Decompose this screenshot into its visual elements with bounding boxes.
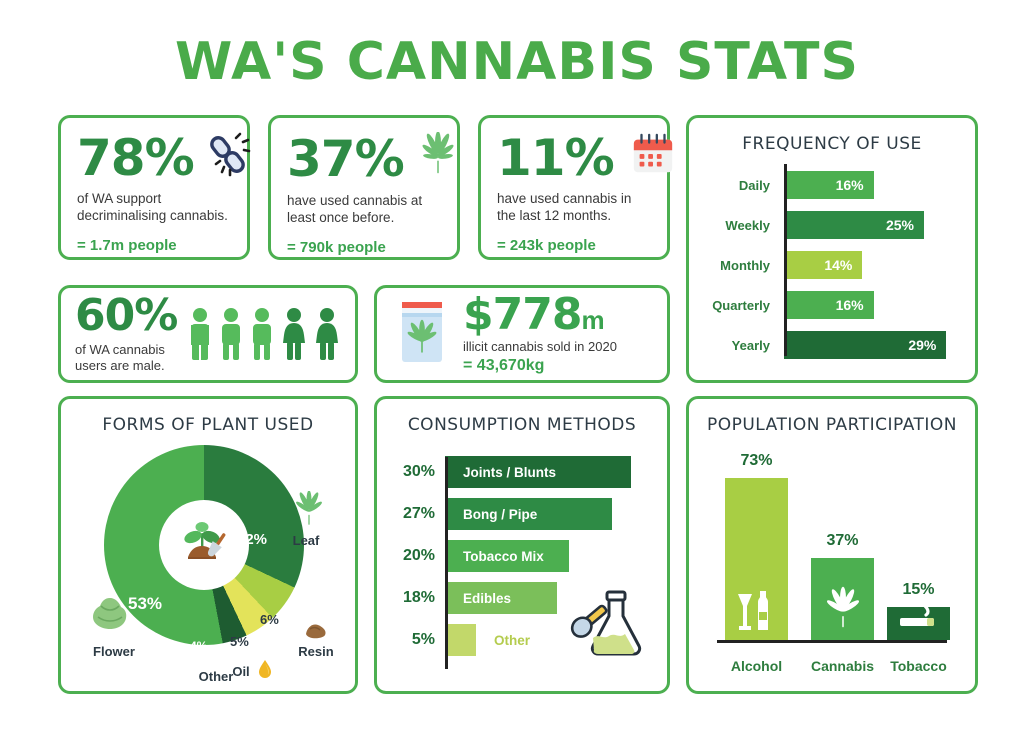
stat-desc-ever-used: have used cannabis at least once before. [287, 193, 441, 227]
people-icon [187, 307, 341, 361]
cannabis-baggie-icon [391, 294, 453, 375]
donut-pct-resin: 6% [260, 612, 279, 627]
frequency-row: Quarterly16% [703, 288, 961, 322]
frequency-bar-yearly: 29% [784, 331, 946, 359]
stat-desc-support: of WA support decriminalising cannabis. [77, 191, 231, 225]
stat-card-ever-used: 37% [268, 115, 460, 260]
stat-sub-support: = 1.7m people [77, 237, 231, 254]
population-baseline [717, 640, 947, 643]
consumption-bar-1: Bong / Pipe [445, 498, 612, 530]
donut-label-resin: Resin [286, 644, 346, 659]
population-bar-chart: 73%Alcohol37%Cannabis15%Tobacco [689, 435, 975, 685]
resin-icon [302, 620, 328, 645]
consumption-row: 30%Joints / Blunts [387, 451, 657, 493]
frequency-of-use-card: FREQUENCY OF USE Daily16%Weekly25%Monthl… [686, 115, 978, 383]
stat-card-support: 78% [58, 115, 250, 260]
donut-pct-oil: 5% [230, 634, 249, 649]
consumption-bar-4 [445, 624, 476, 656]
population-chart-title: POPULATION PARTICIPATION [689, 399, 975, 435]
page-title: WA'S CANNABIS STATS [0, 32, 1034, 92]
frequency-bar-chart: Daily16%Weekly25%Monthly14%Quarterly16%Y… [689, 154, 975, 362]
oil-drop-icon [257, 659, 273, 684]
money-sub: = 43,670kg [463, 357, 617, 375]
population-value-alcohol: 73% [725, 452, 788, 470]
money-desc: illicit cannabis sold in 2020 [463, 339, 617, 355]
frequency-bar-daily: 16% [784, 171, 874, 199]
frequency-row: Daily16% [703, 168, 961, 202]
frequency-bar-monthly: 14% [784, 251, 862, 279]
donut-pct-other: 4% [190, 639, 207, 653]
money-value: $778 [463, 293, 581, 337]
consumption-methods-card: CONSUMPTION METHODS 30%Joints / Blunts27… [374, 396, 670, 694]
consumption-row: 27%Bong / Pipe [387, 493, 657, 535]
broken-chain-icon [202, 132, 254, 183]
frequency-label-daily: Daily [703, 178, 784, 193]
frequency-bar-quarterly: 16% [784, 291, 874, 319]
infographic-page: WA'S CANNABIS STATS 78% [0, 0, 1034, 744]
frequency-label-monthly: Monthly [703, 258, 784, 273]
frequency-row: Yearly29% [703, 328, 961, 362]
frequency-label-yearly: Yearly [703, 338, 784, 353]
stat-card-12-months: 11% [478, 115, 670, 260]
population-label-alcohol: Alcohol [711, 658, 802, 674]
population-column-tobacco: 15%Tobacco [887, 607, 950, 640]
donut-label-flower: Flower [77, 644, 151, 659]
gender-card: 60% of WA cannabis users are male. [58, 285, 358, 383]
consumption-pct-1: 27% [387, 505, 445, 523]
population-bar-cannabis: 37%Cannabis [811, 558, 874, 640]
stat-value-11: 11% [497, 133, 614, 183]
consumption-bar-chart: 30%Joints / Blunts27%Bong / Pipe20%Tobac… [377, 435, 667, 661]
donut-pct-flower: 53% [128, 594, 162, 614]
stat-sub-12-months: = 243k people [497, 237, 651, 254]
consumption-bar-2: Tobacco Mix [445, 540, 569, 572]
donut-label-other: Other [181, 669, 251, 684]
cannabis-leaf-icon [811, 586, 874, 634]
donut-chart: 32% 53% 4% 6% 5% Leaf Resin [61, 439, 355, 679]
consumption-bar-3: Edibles [445, 582, 557, 614]
population-column-cannabis: 37%Cannabis [811, 558, 874, 640]
consumption-bar-0: Joints / Blunts [445, 456, 631, 488]
stat-value-78: 78% [77, 133, 194, 183]
flower-bud-icon [87, 593, 133, 644]
bong-icon [563, 572, 655, 669]
stat-desc-12-months: have used cannabis in the last 12 months… [497, 191, 651, 225]
frequency-row: Monthly14% [703, 248, 961, 282]
population-participation-card: POPULATION PARTICIPATION 73%Alcohol37%Ca… [686, 396, 978, 694]
donut-center [159, 500, 249, 590]
frequency-row: Weekly25% [703, 208, 961, 242]
population-label-tobacco: Tobacco [873, 658, 964, 674]
consumption-chart-title: CONSUMPTION METHODS [377, 399, 667, 435]
frequency-label-quarterly: Quarterly [703, 298, 784, 313]
wine-bottle-glass-icon [725, 590, 788, 634]
seedling-trowel-icon [176, 517, 232, 574]
frequency-chart-title: FREQUENCY OF USE [689, 118, 975, 154]
consumption-pct-3: 18% [387, 589, 445, 607]
calendar-icon [630, 132, 676, 183]
leaf-icon [289, 491, 329, 536]
frequency-label-weekly: Weekly [703, 218, 784, 233]
donut-chart-title: FORMS OF PLANT USED [61, 399, 355, 435]
gender-desc: of WA cannabis users are male. [75, 342, 187, 375]
consumption-label-other: Other [476, 633, 530, 648]
cannabis-leaf-icon [414, 132, 462, 185]
cigarette-icon [887, 594, 950, 634]
forms-of-plant-card: FORMS OF PLANT USED [58, 396, 358, 694]
stat-value-60: 60% [75, 294, 187, 338]
consumption-pct-2: 20% [387, 547, 445, 565]
stat-value-37: 37% [287, 134, 404, 184]
stat-sub-ever-used: = 790k people [287, 239, 441, 256]
donut-pct-leaf: 32% [237, 531, 267, 548]
population-column-alcohol: 73%Alcohol [725, 478, 788, 640]
money-card: $778 m illicit cannabis sold in 2020 = 4… [374, 285, 670, 383]
population-value-cannabis: 37% [811, 532, 874, 550]
money-unit: m [581, 305, 604, 336]
population-bar-tobacco: 15%Tobacco [887, 607, 950, 640]
consumption-pct-0: 30% [387, 463, 445, 481]
population-bar-alcohol: 73%Alcohol [725, 478, 788, 640]
consumption-row: 20%Tobacco Mix [387, 535, 657, 577]
frequency-bar-weekly: 25% [784, 211, 924, 239]
frequency-axis [784, 164, 787, 356]
consumption-pct-4: 5% [387, 631, 445, 649]
consumption-axis [445, 457, 448, 669]
